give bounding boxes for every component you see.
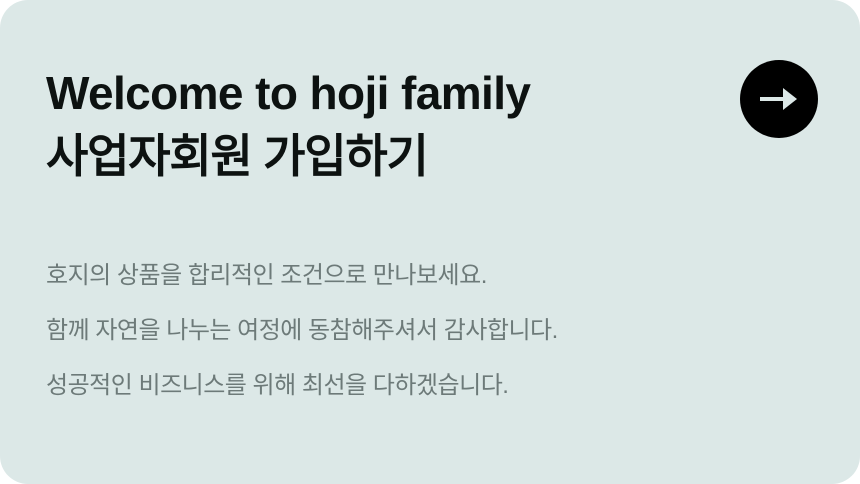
banner-heading: Welcome to hoji family 사업자회원 가입하기 [46,62,666,188]
cta-arrow-button[interactable] [740,60,818,138]
heading-line-english: Welcome to hoji family [46,62,666,125]
description-line-2: 함께 자연을 나누는 여정에 동참해주셔서 감사합니다. [46,303,746,358]
banner-description: 호지의 상품을 합리적인 조건으로 만나보세요. 함께 자연을 나누는 여정에 … [46,248,746,413]
signup-banner-card[interactable]: Welcome to hoji family 사업자회원 가입하기 호지의 상품… [0,0,860,484]
description-line-3: 성공적인 비즈니스를 위해 최선을 다하겠습니다. [46,358,746,413]
heading-line-korean: 사업자회원 가입하기 [46,125,666,188]
arrow-right-icon [759,86,799,112]
banner-content: Welcome to hoji family 사업자회원 가입하기 호지의 상품… [46,0,818,484]
description-line-1: 호지의 상품을 합리적인 조건으로 만나보세요. [46,248,746,303]
